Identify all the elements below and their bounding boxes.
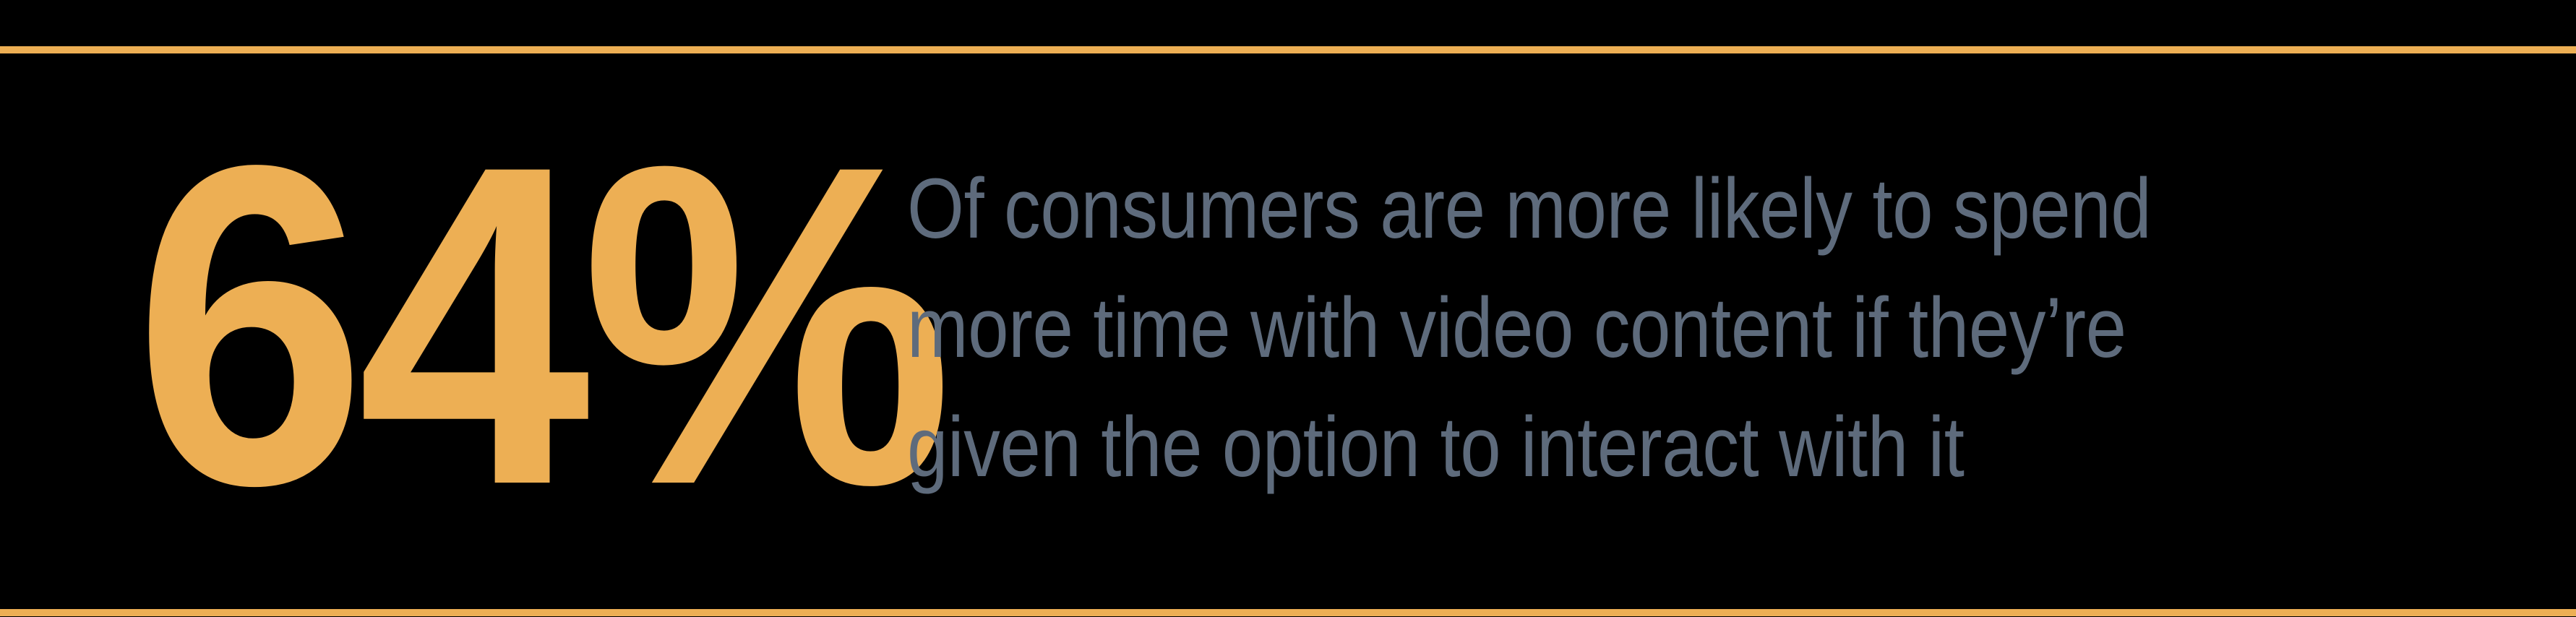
description-line-3: given the option to interact with it — [907, 388, 2151, 507]
description-line-1: Of consumers are more likely to spend — [907, 150, 2151, 269]
statistic-figure-block: 64% — [0, 168, 907, 496]
description-text: Of consumers are more likely to spend mo… — [907, 150, 2151, 507]
description-block: Of consumers are more likely to spend mo… — [907, 152, 2576, 510]
statistic-value: 64% — [134, 162, 944, 490]
card-content: 64% Of consumers are more likely to spen… — [0, 53, 2576, 609]
bottom-divider-rule — [0, 609, 2576, 616]
top-divider-rule — [0, 46, 2576, 53]
description-line-2: more time with video content if they’re — [907, 269, 2151, 388]
statistic-callout-card: 64% Of consumers are more likely to spen… — [0, 0, 2576, 617]
